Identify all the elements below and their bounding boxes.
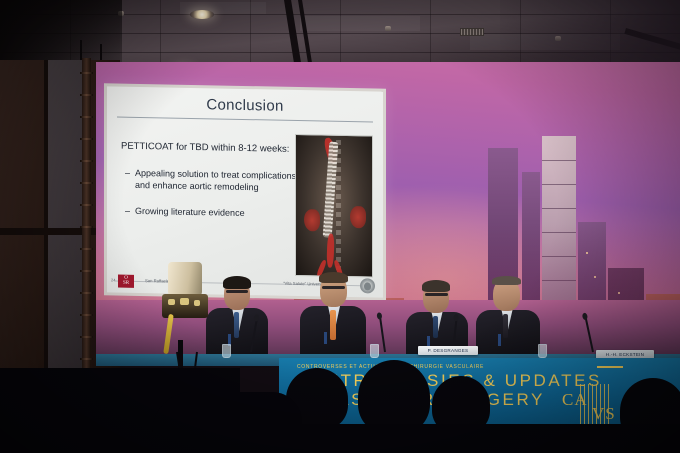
camera-lens-hood [168, 262, 202, 296]
cacvs-logo: CA VS [562, 384, 624, 428]
slide-page-number: 24 [111, 277, 115, 282]
water-glass-1 [222, 344, 231, 358]
projection-screen: Conclusion PETTICOAT for TBD within 8-12… [104, 83, 386, 300]
audience-head-2 [358, 360, 430, 434]
banner-accent-dash [597, 366, 623, 368]
bullet-text: Appealing solution to treat complication… [135, 167, 300, 195]
slide-bullet-1: – Appealing solution to treat complicati… [125, 167, 300, 195]
lighting-truss [82, 58, 91, 368]
sprinkler-head [385, 26, 391, 31]
ct-angiography-image [295, 134, 373, 277]
bullet-dash-icon: – [125, 205, 130, 218]
bullet-text: Growing literature evidence [135, 205, 245, 220]
panelist-2-glasses [322, 286, 345, 289]
foreground-shoulder-left [152, 392, 302, 453]
ceiling-vent [460, 28, 484, 36]
camera-rig [158, 262, 210, 358]
slide-lead-text: PETTICOAT for TBD within 8-12 weeks: [121, 141, 301, 157]
ceiling-downlight [190, 10, 214, 19]
conference-photo: Conclusion PETTICOAT for TBD within 8-12… [0, 0, 680, 453]
water-glass-2 [370, 344, 379, 358]
bullet-dash-icon: – [125, 167, 130, 192]
slide-bullet-list: – Appealing solution to treat complicati… [125, 167, 300, 234]
slide-bullet-2: – Growing literature evidence [125, 205, 300, 221]
presentation-slide: Conclusion PETTICOAT for TBD within 8-12… [107, 86, 383, 297]
panelist-4 [476, 276, 540, 362]
kidney-left [304, 209, 320, 231]
slide-title: Conclusion [107, 94, 383, 116]
placard-desgranges: P. DESGRANGES [418, 346, 478, 355]
osr-logo: O SR [118, 275, 134, 288]
panelist-2 [300, 272, 366, 362]
cacvs-logo-tail: VS [592, 404, 616, 424]
cacvs-logo-text: CA [562, 390, 588, 410]
foreground-audience-row [0, 424, 680, 453]
panelist-2-tie [330, 310, 336, 340]
water-glass-3 [538, 344, 547, 358]
kidney-right [350, 206, 366, 228]
panelist-1-glasses [226, 290, 248, 293]
osr-logo-line2: SR [118, 281, 134, 287]
slide-title-rule [117, 117, 373, 123]
panelist-3-glasses [425, 293, 448, 296]
camera-cable [163, 314, 174, 354]
